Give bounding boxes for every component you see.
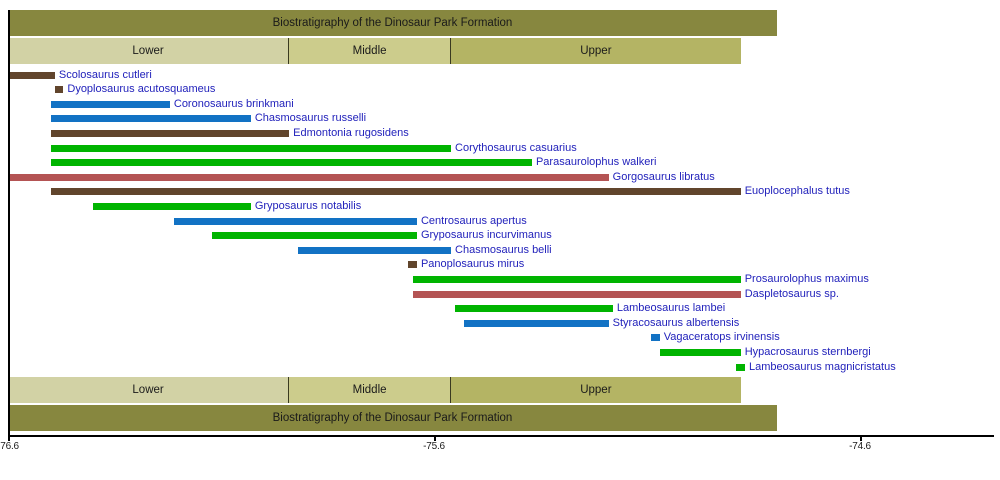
taxon-label: Euoplocephalus tutus <box>745 184 850 198</box>
member-band-middle: Middle <box>289 38 451 64</box>
taxon-row[interactable]: Panoplosaurus mirus <box>0 258 1000 272</box>
taxon-row[interactable]: Scolosaurus cutleri <box>0 68 1000 82</box>
member-band-middle: Middle <box>289 377 451 403</box>
taxon-row[interactable]: Dyoplosaurus acutosquameus <box>0 83 1000 97</box>
taxon-label: Vagaceratops irvinensis <box>664 330 780 344</box>
taxon-label: Gorgosaurus libratus <box>613 170 715 184</box>
taxon-row[interactable]: Coronosaurus brinkmani <box>0 97 1000 111</box>
chart-title-bottom: Biostratigraphy of the Dinosaur Park For… <box>8 405 777 431</box>
range-bar[interactable] <box>298 247 451 254</box>
range-bar[interactable] <box>8 72 55 79</box>
taxon-row[interactable]: Styracosaurus albertensis <box>0 316 1000 330</box>
taxon-row[interactable]: Euoplocephalus tutus <box>0 185 1000 199</box>
taxon-label: Coronosaurus brinkmani <box>174 97 294 111</box>
member-row-bottom: LowerMiddleUpper <box>8 377 777 403</box>
taxon-label: Styracosaurus albertensis <box>613 316 740 330</box>
taxon-row[interactable]: Chasmosaurus russelli <box>0 112 1000 126</box>
taxon-row[interactable]: Chasmosaurus belli <box>0 243 1000 257</box>
member-band-lower: Lower <box>8 377 289 403</box>
taxon-label: Chasmosaurus russelli <box>255 111 366 125</box>
taxon-label: Parasaurolophus walkeri <box>536 155 656 169</box>
taxon-label: Hypacrosaurus sternbergi <box>745 345 871 359</box>
range-bar[interactable] <box>736 364 745 371</box>
range-bar[interactable] <box>51 145 451 152</box>
range-bar[interactable] <box>93 203 251 210</box>
member-band-label: Upper <box>580 384 611 396</box>
taxon-label: Edmontonia rugosidens <box>293 126 409 140</box>
taxon-row[interactable]: Daspletosaurus sp. <box>0 287 1000 301</box>
biostratigraphy-chart: Biostratigraphy of the Dinosaur Park For… <box>0 0 1000 480</box>
taxon-label: Panoplosaurus mirus <box>421 257 524 271</box>
member-band-upper: Upper <box>451 377 741 403</box>
member-band-label: Upper <box>580 45 611 57</box>
taxon-row[interactable]: Lambeosaurus lambei <box>0 302 1000 316</box>
member-band-label: Middle <box>353 45 387 57</box>
taxon-row[interactable]: Gryposaurus notabilis <box>0 199 1000 213</box>
x-axis-line <box>8 435 994 437</box>
range-bar[interactable] <box>455 305 613 312</box>
range-bar[interactable] <box>651 334 660 341</box>
taxon-label: Daspletosaurus sp. <box>745 287 839 301</box>
taxon-row[interactable]: Hypacrosaurus sternbergi <box>0 345 1000 359</box>
y-axis-line <box>8 10 10 436</box>
range-bar[interactable] <box>51 130 290 137</box>
member-band-lower: Lower <box>8 38 289 64</box>
taxon-label: Corythosaurus casuarius <box>455 141 577 155</box>
taxon-row[interactable]: Gryposaurus incurvimanus <box>0 229 1000 243</box>
range-bar[interactable] <box>8 174 609 181</box>
chart-title-top: Biostratigraphy of the Dinosaur Park For… <box>8 10 777 36</box>
range-bar[interactable] <box>408 261 417 268</box>
range-bar[interactable] <box>413 276 741 283</box>
range-bar[interactable] <box>55 86 64 93</box>
range-bar[interactable] <box>212 232 416 239</box>
range-bar[interactable] <box>51 188 741 195</box>
taxon-row[interactable]: Centrosaurus apertus <box>0 214 1000 228</box>
member-band-label: Middle <box>353 384 387 396</box>
taxon-row[interactable]: Vagaceratops irvinensis <box>0 331 1000 345</box>
range-bar[interactable] <box>464 320 609 327</box>
taxon-label: Prosaurolophus maximus <box>745 272 869 286</box>
taxon-row[interactable]: Edmontonia rugosidens <box>0 126 1000 140</box>
taxon-label: Lambeosaurus lambei <box>617 301 725 315</box>
taxon-row[interactable]: Prosaurolophus maximus <box>0 272 1000 286</box>
taxon-label: Gryposaurus incurvimanus <box>421 228 552 242</box>
taxon-label: Lambeosaurus magnicristatus <box>749 360 896 374</box>
taxon-label: Dyoplosaurus acutosquameus <box>67 82 215 96</box>
range-bar[interactable] <box>51 115 251 122</box>
taxon-row[interactable]: Gorgosaurus libratus <box>0 170 1000 184</box>
member-band-label: Lower <box>132 45 163 57</box>
taxon-label: Gryposaurus notabilis <box>255 199 361 213</box>
x-axis-tick-label: -75.6 <box>423 441 445 452</box>
member-band-upper: Upper <box>451 38 741 64</box>
range-bar[interactable] <box>413 291 741 298</box>
member-band-label: Lower <box>132 384 163 396</box>
taxon-label: Scolosaurus cutleri <box>59 68 152 82</box>
range-bar[interactable] <box>174 218 417 225</box>
x-axis-tick-label: -76.6 <box>0 441 19 452</box>
taxon-row[interactable]: Corythosaurus casuarius <box>0 141 1000 155</box>
x-axis-tick-label: -74.6 <box>849 441 871 452</box>
range-bar[interactable] <box>51 159 532 166</box>
taxon-label: Chasmosaurus belli <box>455 243 552 257</box>
taxon-label: Centrosaurus apertus <box>421 214 527 228</box>
range-bar[interactable] <box>51 101 170 108</box>
taxon-row[interactable]: Lambeosaurus magnicristatus <box>0 360 1000 374</box>
taxon-row[interactable]: Parasaurolophus walkeri <box>0 156 1000 170</box>
member-row-top: LowerMiddleUpper <box>8 38 777 64</box>
range-bar[interactable] <box>660 349 741 356</box>
